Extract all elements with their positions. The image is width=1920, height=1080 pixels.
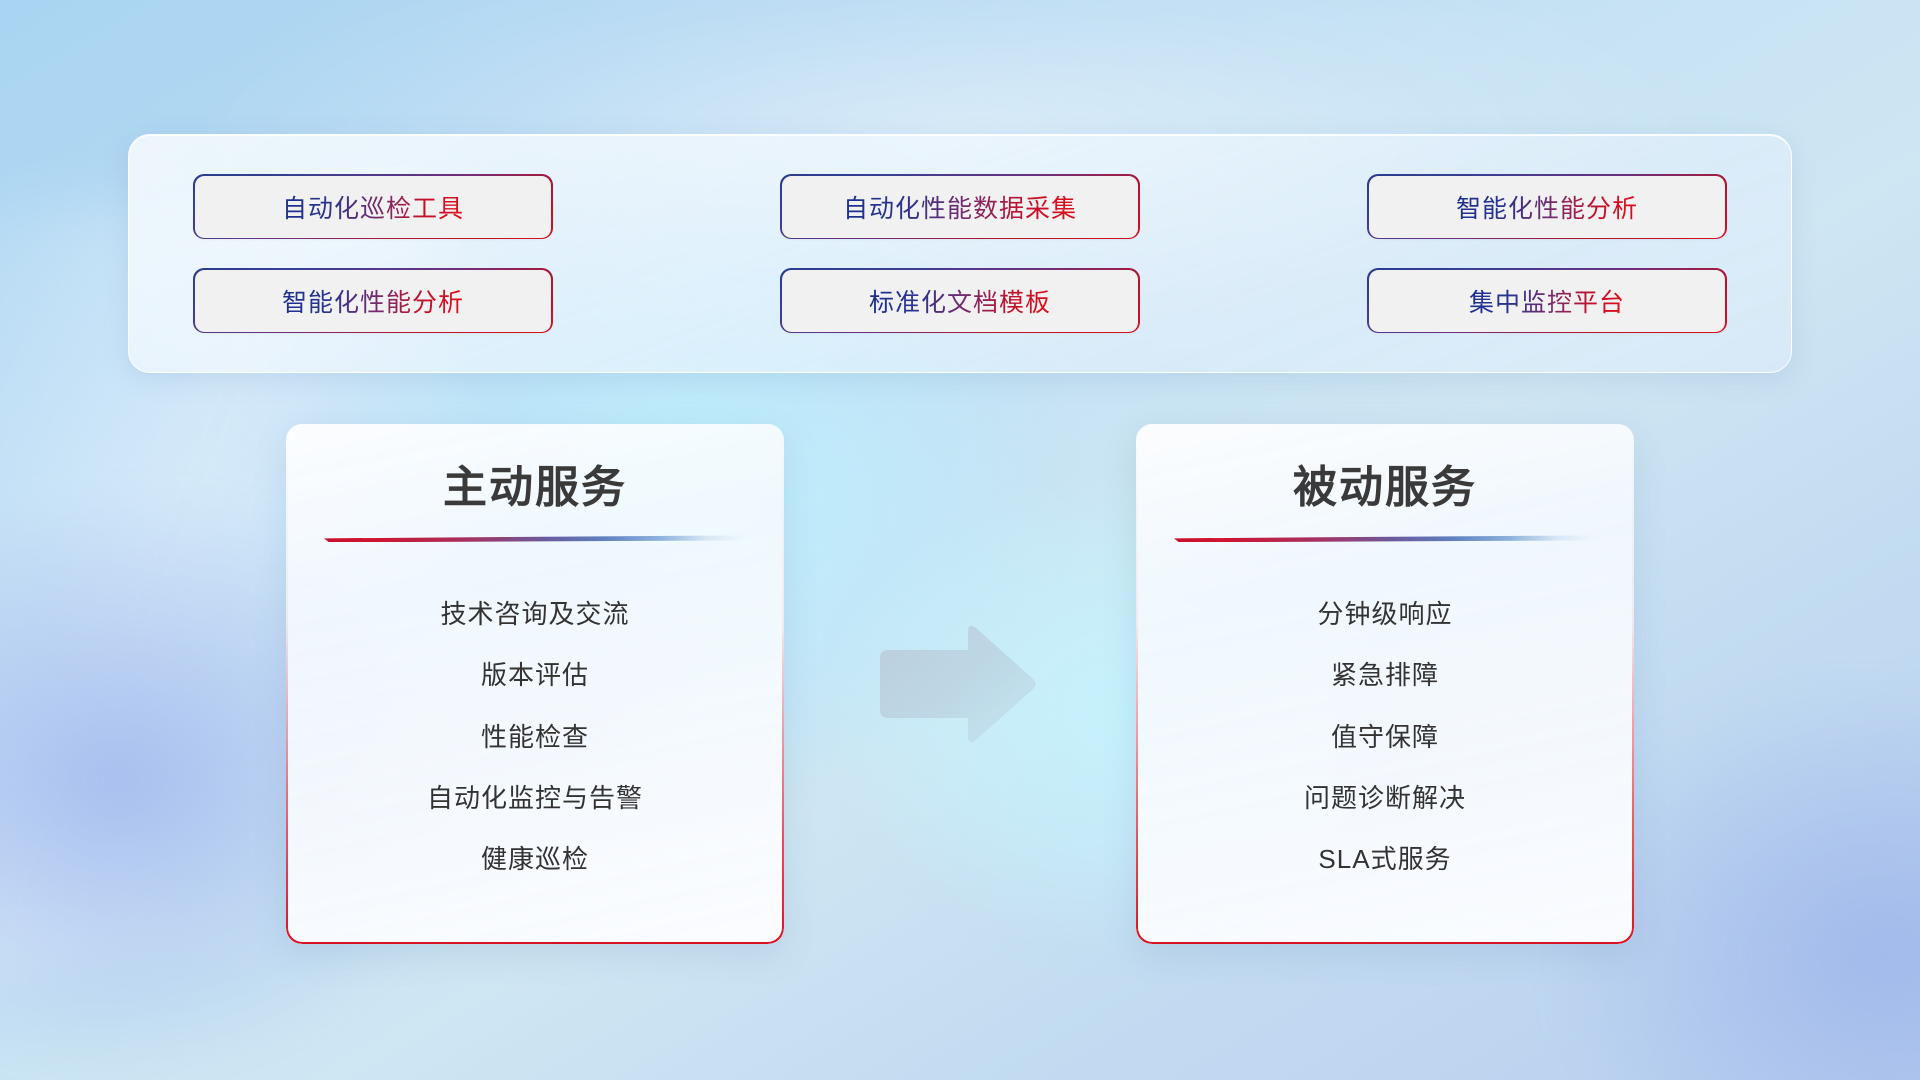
card-list-item: 版本评估 (320, 660, 750, 691)
card-list-item: 自动化监控与告警 (320, 783, 750, 814)
capability-tag[interactable]: 自动化性能数据采集 (782, 176, 1138, 238)
card-title: 被动服务 (1170, 458, 1600, 517)
card-list-item: 健康巡检 (320, 844, 750, 875)
capability-tag-label: 自动化性能数据采集 (843, 189, 1077, 225)
arrow-right-icon (872, 620, 1040, 748)
capability-row-1: 自动化巡检工具 自动化性能数据采集 智能化性能分析 (195, 176, 1725, 238)
card-item-list: 技术咨询及交流 版本评估 性能检查 自动化监控与告警 健康巡检 (320, 556, 750, 918)
capability-tag[interactable]: 集中监控平台 (1369, 270, 1725, 332)
card-list-item: 问题诊断解决 (1170, 783, 1600, 814)
capability-tag[interactable]: 智能化性能分析 (195, 270, 551, 332)
card-list-item: 性能检查 (320, 722, 750, 753)
card-list-item: 技术咨询及交流 (320, 599, 750, 630)
capability-tag-label: 自动化巡检工具 (282, 189, 464, 225)
capability-row-2: 智能化性能分析 标准化文档模板 集中监控平台 (195, 270, 1725, 332)
capabilities-panel: 自动化巡检工具 自动化性能数据采集 智能化性能分析 智能化性能分析 标准化文档模… (128, 134, 1792, 373)
service-card-proactive: 主动服务 技术咨询及交流 版本评估 性能检查 自动化监控与告警 健康巡检 (286, 424, 784, 944)
capability-tag[interactable]: 智能化性能分析 (1369, 176, 1725, 238)
card-list-item: 分钟级响应 (1170, 599, 1600, 630)
capability-tag-label: 集中监控平台 (1469, 283, 1625, 319)
capability-tag-label: 智能化性能分析 (1456, 189, 1638, 225)
card-title: 主动服务 (320, 458, 750, 517)
capability-tag[interactable]: 标准化文档模板 (782, 270, 1138, 332)
card-list-item: SLA式服务 (1170, 844, 1600, 875)
service-card-reactive: 被动服务 分钟级响应 紧急排障 值守保障 问题诊断解决 SLA式服务 (1136, 424, 1634, 944)
card-list-item: 值守保障 (1170, 722, 1600, 753)
card-divider (324, 535, 746, 542)
capability-tag-label: 标准化文档模板 (869, 283, 1051, 319)
card-divider (1174, 535, 1596, 542)
capability-tag-label: 智能化性能分析 (282, 283, 464, 319)
capability-tag[interactable]: 自动化巡检工具 (195, 176, 551, 238)
card-list-item: 紧急排障 (1170, 660, 1600, 691)
card-item-list: 分钟级响应 紧急排障 值守保障 问题诊断解决 SLA式服务 (1170, 556, 1600, 918)
